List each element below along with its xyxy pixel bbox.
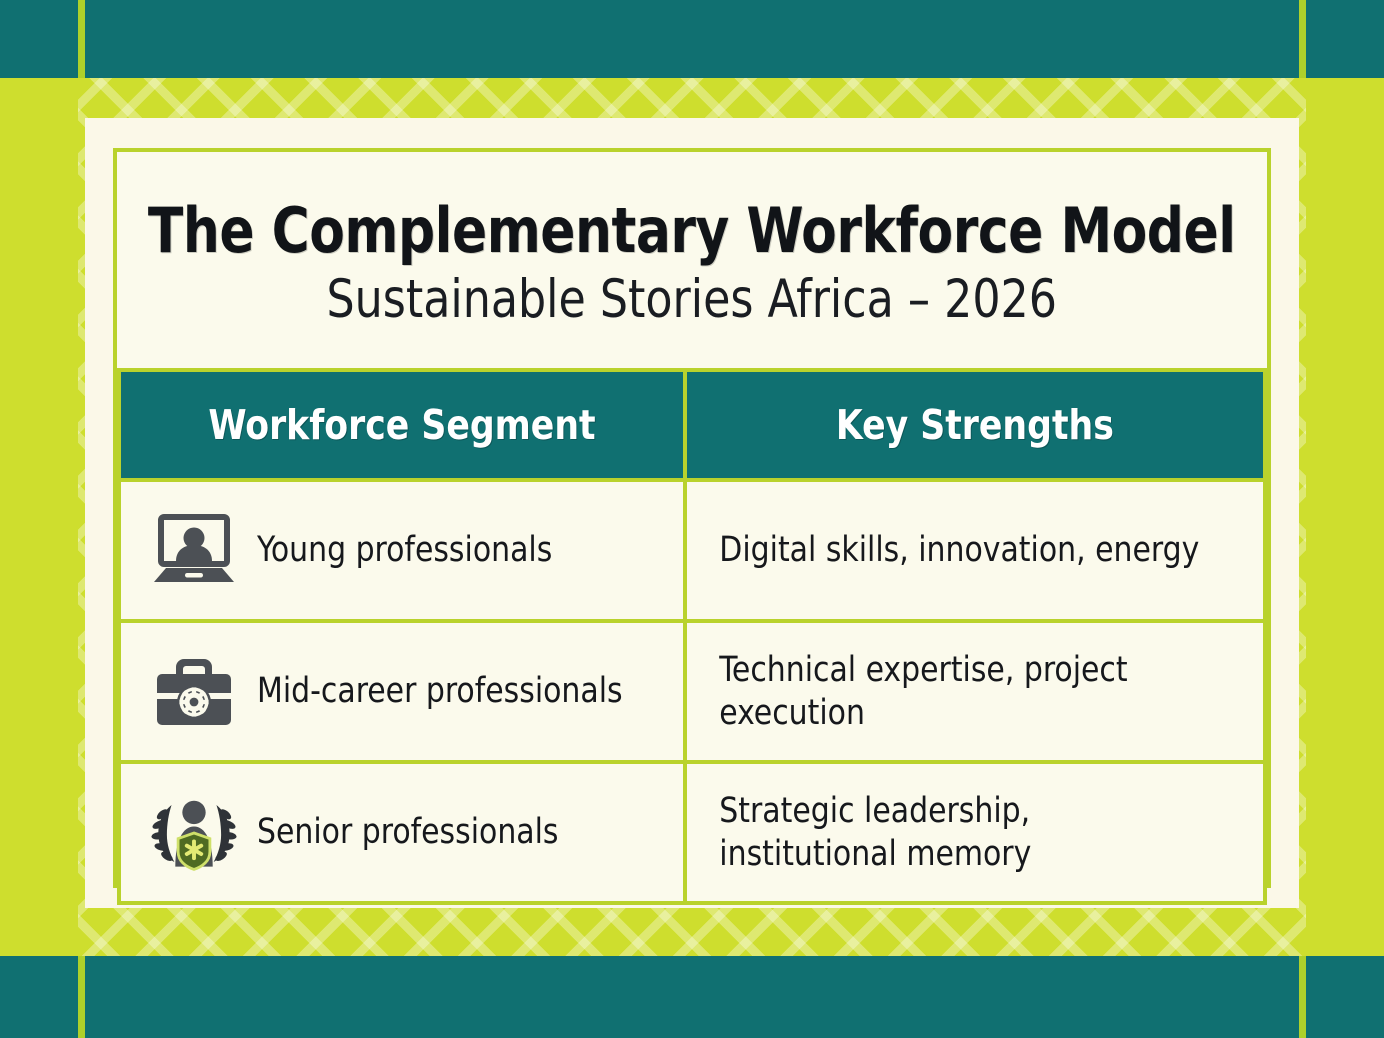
laurel-person-badge-icon	[151, 790, 237, 876]
workforce-table: Workforce Segment Key Strengths	[117, 368, 1267, 905]
header-workforce-segment: Workforce Segment	[119, 370, 685, 480]
page-title: The Complementary Workforce Model	[148, 199, 1236, 263]
segment-label: Mid-career professionals	[257, 671, 623, 712]
laptop-person-icon	[151, 508, 237, 594]
table-row: Mid-career professionals Technical exper…	[119, 621, 1265, 762]
table-header-row: Workforce Segment Key Strengths	[119, 370, 1265, 480]
strengths-text: Technical expertise, project execution	[687, 649, 1234, 734]
header-key-strengths-label: Key Strengths	[836, 401, 1114, 449]
teal-band-top	[0, 0, 1384, 78]
content-panel: The Complementary Workforce Model Sustai…	[113, 148, 1271, 888]
accent-line-top-right	[1299, 0, 1306, 78]
header-key-strengths: Key Strengths	[685, 370, 1265, 480]
segment-label: Young professionals	[257, 530, 552, 571]
header-workforce-segment-label: Workforce Segment	[208, 401, 595, 449]
segment-label: Senior professionals	[257, 812, 559, 853]
segment-cell: Senior professionals	[119, 762, 685, 903]
strengths-cell: Strategic leadership, institutional memo…	[685, 762, 1265, 903]
accent-line-bottom-left	[78, 956, 85, 1038]
table-row: Senior professionals Strategic leadershi…	[119, 762, 1265, 903]
page-subtitle: Sustainable Stories Africa – 2026	[327, 270, 1057, 329]
teal-band-bottom	[0, 956, 1384, 1038]
segment-cell: Mid-career professionals	[119, 621, 685, 762]
segment-cell: Young professionals	[119, 480, 685, 621]
lime-block-left	[0, 78, 78, 956]
strengths-text: Digital skills, innovation, energy	[687, 529, 1234, 572]
briefcase-gear-icon	[151, 649, 237, 735]
strengths-text: Strategic leadership, institutional memo…	[687, 790, 1234, 875]
accent-line-bottom-right	[1299, 956, 1306, 1038]
strengths-cell: Technical expertise, project execution	[685, 621, 1265, 762]
accent-line-top-left	[78, 0, 85, 78]
strengths-cell: Digital skills, innovation, energy	[685, 480, 1265, 621]
lime-block-right	[1306, 78, 1384, 956]
table-row: Young professionals Digital skills, inno…	[119, 480, 1265, 621]
title-block: The Complementary Workforce Model Sustai…	[117, 152, 1267, 368]
slide-canvas: The Complementary Workforce Model Sustai…	[0, 0, 1384, 1038]
